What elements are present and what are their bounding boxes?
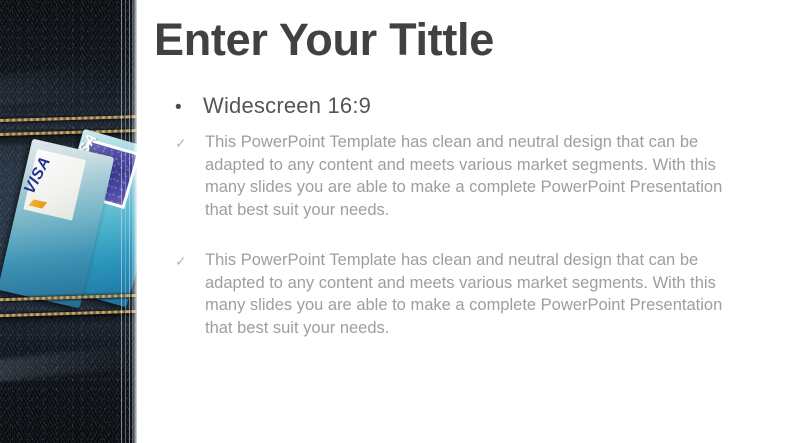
visa-swoosh-front-icon (29, 199, 48, 208)
bullet-dot-icon: • (175, 98, 203, 117)
body-paragraph-1: This PowerPoint Template has clean and n… (205, 131, 750, 221)
list-item: ✓ This PowerPoint Template has clean and… (175, 131, 785, 221)
page-title: Enter Your Tittle (154, 14, 494, 66)
visa-logo-front: VISA (21, 154, 55, 197)
widescreen-heading-row: • Widescreen 16:9 (175, 93, 785, 119)
denim-photo-panel: VISA VISA (0, 0, 137, 443)
widescreen-heading-label: Widescreen 16:9 (203, 93, 371, 119)
slide-content-area: Enter Your Tittle • Widescreen 16:9 ✓ Th… (137, 0, 788, 443)
list-item: ✓ This PowerPoint Template has clean and… (175, 249, 785, 339)
checkmark-icon: ✓ (175, 249, 205, 272)
presentation-slide: VISA VISA Enter Your Tittle • Widescreen… (0, 0, 788, 443)
slide-body: • Widescreen 16:9 ✓ This PowerPoint Temp… (175, 93, 785, 367)
checkmark-icon: ✓ (175, 131, 205, 154)
visa-logo-panel-front: VISA (23, 149, 86, 221)
body-paragraph-2: This PowerPoint Template has clean and n… (205, 249, 750, 339)
